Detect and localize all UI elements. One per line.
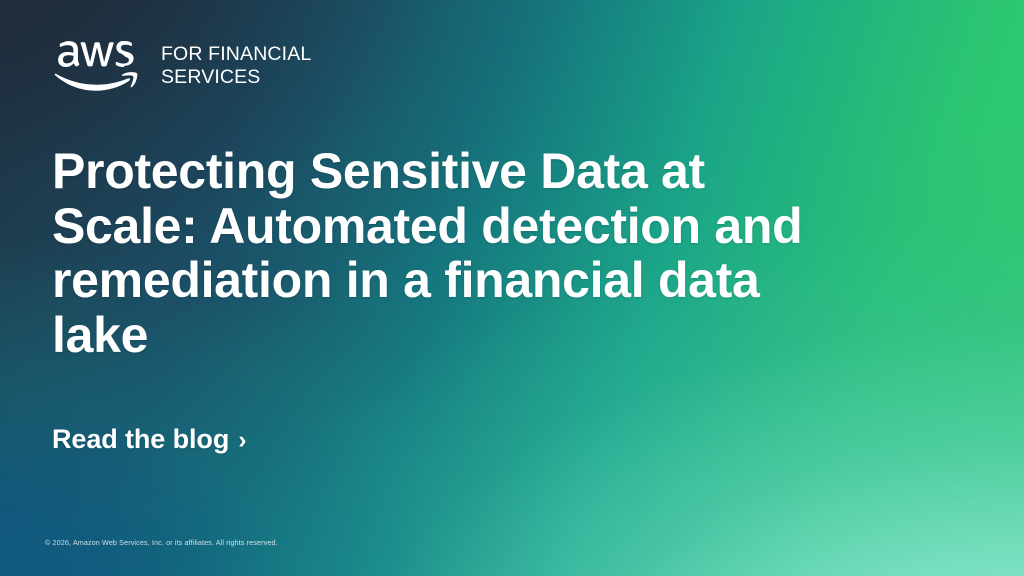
banner-content: FOR FINANCIAL SERVICES Protecting Sensit…	[0, 0, 1024, 576]
read-the-blog-link[interactable]: Read the blog ›	[52, 424, 246, 455]
marketing-banner: FOR FINANCIAL SERVICES Protecting Sensit…	[0, 0, 1024, 576]
copyright-notice: © 2026, Amazon Web Services, Inc. or its…	[45, 538, 278, 548]
aws-logo-icon	[44, 41, 148, 91]
aws-lockup-label: FOR FINANCIAL SERVICES	[161, 41, 311, 88]
page-title: Protecting Sensitive Data at Scale: Auto…	[52, 144, 852, 362]
chevron-right-icon: ›	[238, 428, 246, 453]
aws-logo-lockup: FOR FINANCIAL SERVICES	[44, 41, 311, 91]
read-the-blog-label: Read the blog	[52, 424, 229, 455]
